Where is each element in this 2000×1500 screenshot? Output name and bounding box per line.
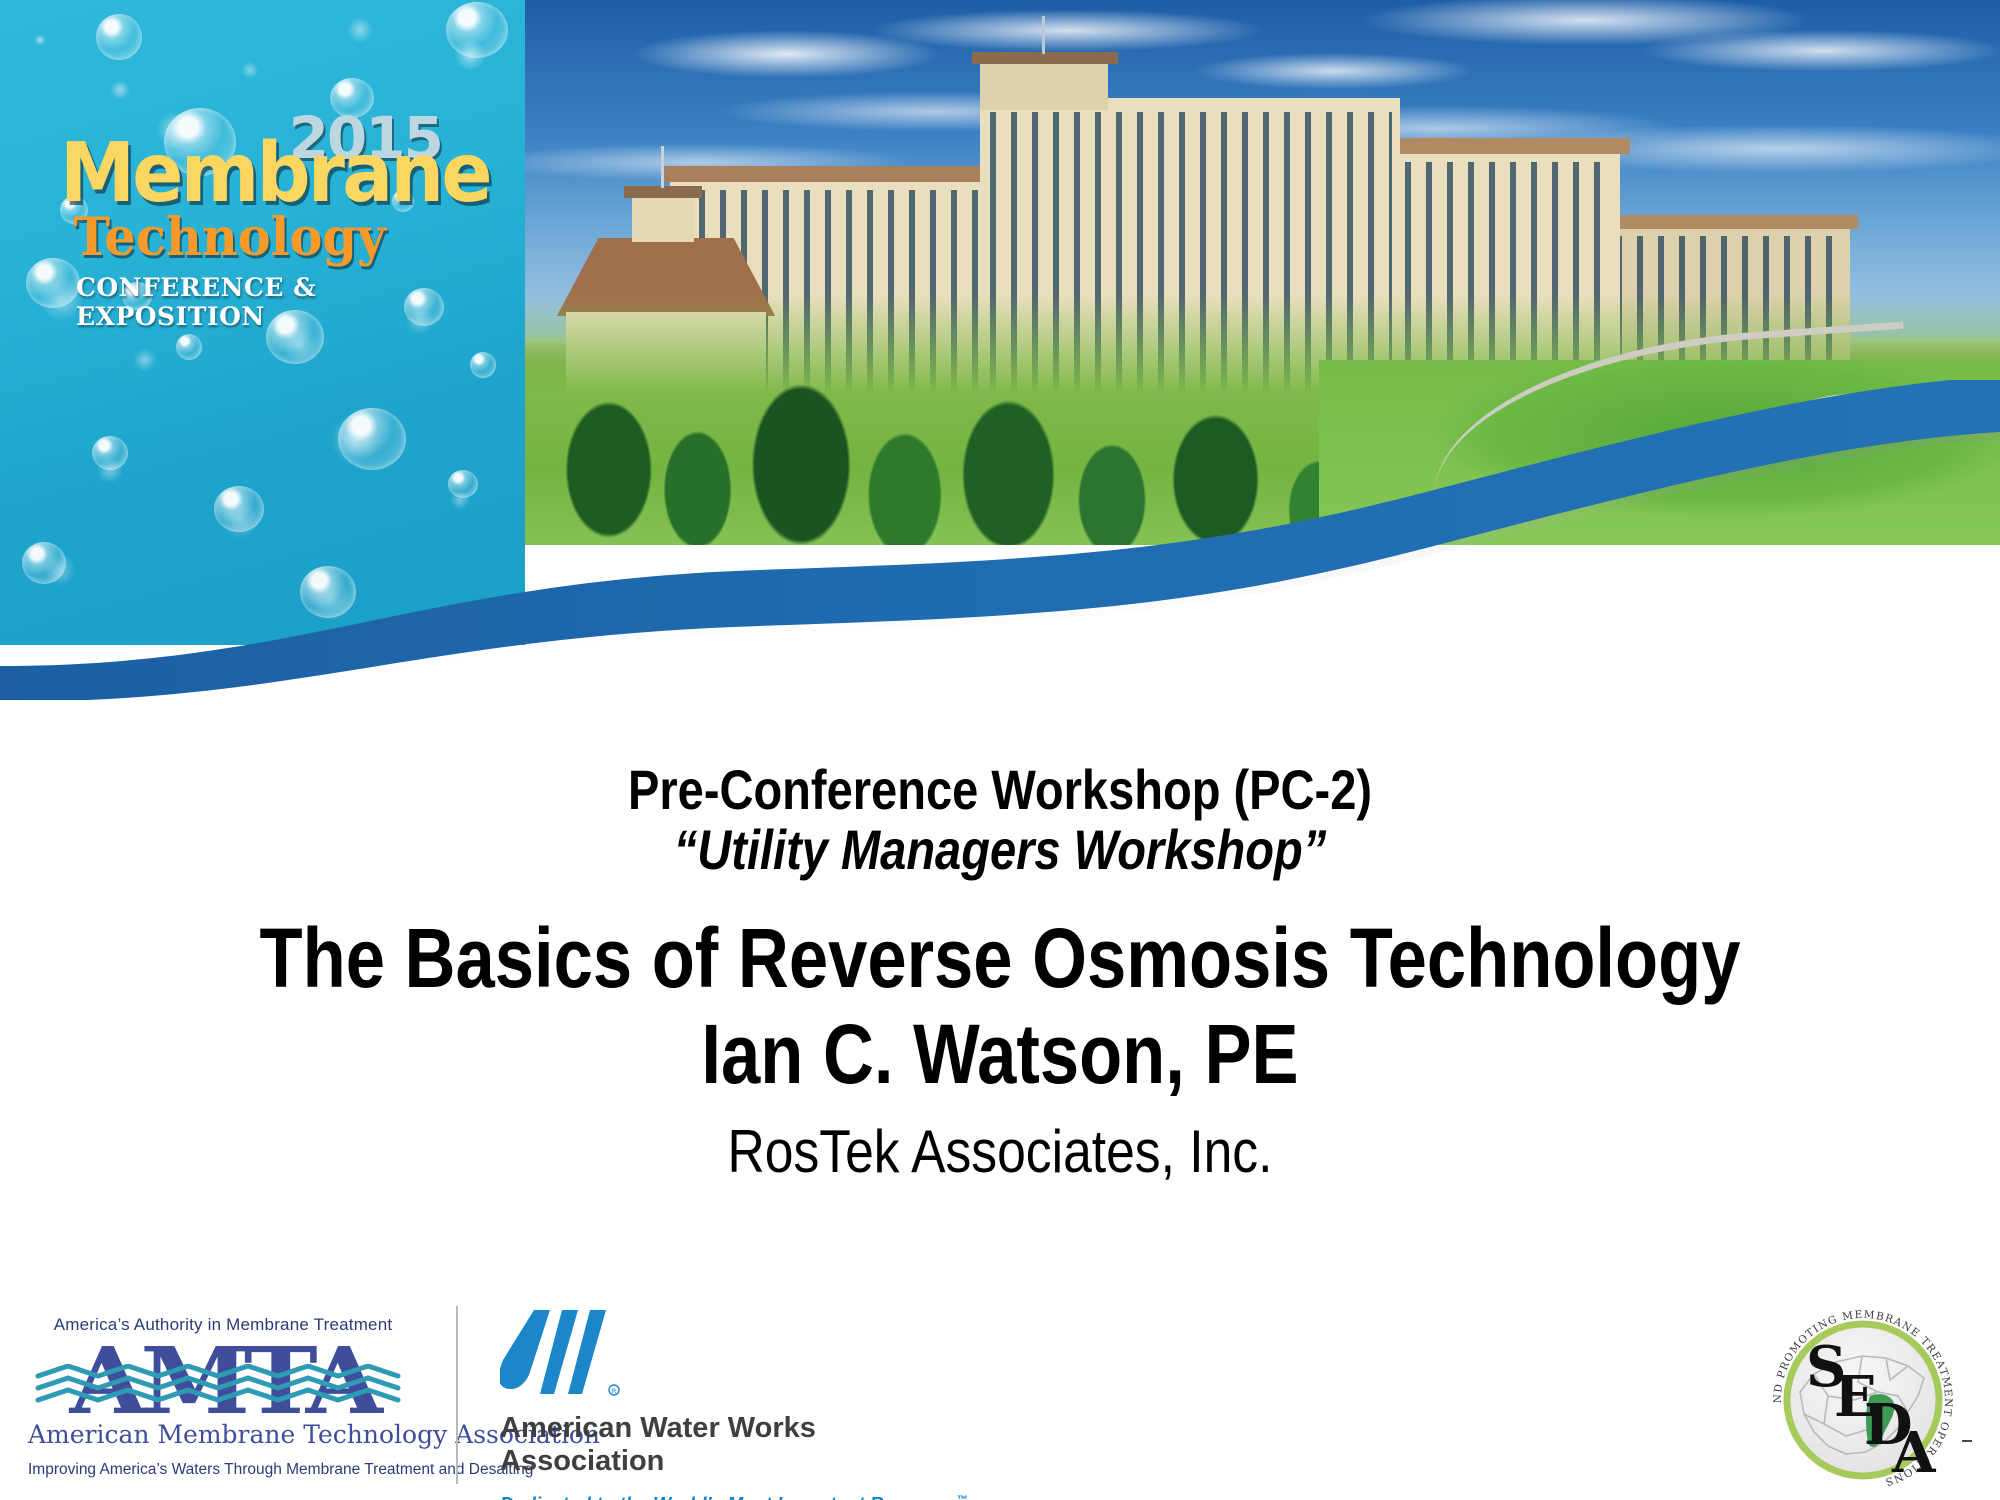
page-title: The Basics of Reverse Osmosis Technology — [160, 910, 1840, 1007]
awwa-trademark: ™ — [956, 1494, 967, 1500]
bubble-icon — [470, 352, 496, 378]
awwa-name: American Water Works Association — [500, 1412, 920, 1478]
conference-logo-membrane: Membrane — [60, 140, 456, 207]
tower-cupola — [980, 60, 1108, 110]
tower-cupola-roof — [972, 52, 1118, 64]
awwa-name-line-2: Association — [500, 1445, 920, 1478]
amta-logo: America’s Authority in Membrane Treatmen… — [28, 1315, 418, 1479]
pavilion-spire — [661, 146, 664, 188]
awwa-name-line-1: American Water Works — [500, 1412, 920, 1445]
amta-waves-icon — [28, 1364, 418, 1408]
svg-text:R: R — [612, 1388, 617, 1396]
seda-logo: SERVING AND PROMOTING MEMBRANE TREATMENT… — [1758, 1300, 1968, 1500]
seda-logo-svg: SERVING AND PROMOTING MEMBRANE TREATMENT… — [1758, 1300, 1968, 1500]
awwa-tagline: Dedicated to the World’s Most Important … — [500, 1494, 920, 1500]
workshop-subtitle: “Utility Managers Workshop” — [160, 819, 1840, 882]
amta-tagline-bottom: Improving America’s Waters Through Membr… — [28, 1461, 418, 1479]
tower-antenna — [1042, 16, 1045, 54]
workshop-label: Pre-Conference Workshop (PC-2) — [160, 760, 1840, 819]
blue-swoosh-divider — [0, 380, 2000, 700]
awwa-tagline-text: Dedicated to the World’s Most Important … — [500, 1494, 956, 1500]
slide-banner: 2015 Membrane Technology CONFERENCE & EX… — [0, 0, 2000, 700]
presenter-name: Ian C. Watson, PE — [160, 1008, 1840, 1100]
conference-logo-subtitle: CONFERENCE & EXPOSITION — [60, 273, 490, 331]
presentation-slide: 2015 Membrane Technology CONFERENCE & EX… — [0, 0, 2000, 1500]
awwa-mark-svg: R — [500, 1310, 630, 1402]
roof-right-wing — [1604, 215, 1858, 229]
awwa-droplet-icon: R — [500, 1310, 630, 1402]
slide-corner-mark — [1962, 1440, 1972, 1442]
roof-main-left — [662, 166, 1000, 182]
presenter-company: RosTek Associates, Inc. — [140, 1116, 1860, 1188]
conference-logo: 2015 Membrane Technology CONFERENCE & EX… — [60, 112, 490, 331]
bubble-icon — [176, 334, 202, 360]
bubble-icon — [446, 2, 508, 58]
seda-letter-a: A — [1891, 1420, 1937, 1486]
conference-logo-technology: Technology — [60, 213, 469, 262]
amta-mark: AMTA — [28, 1338, 418, 1424]
title-block: Pre-Conference Workshop (PC-2) “Utility … — [0, 760, 2000, 1188]
awwa-logo: R American Water Works Association Dedic… — [500, 1310, 920, 1500]
bubble-icon — [96, 14, 142, 60]
swoosh-band — [0, 380, 2000, 700]
pavilion-cupola — [632, 196, 694, 242]
logo-divider — [456, 1306, 458, 1484]
